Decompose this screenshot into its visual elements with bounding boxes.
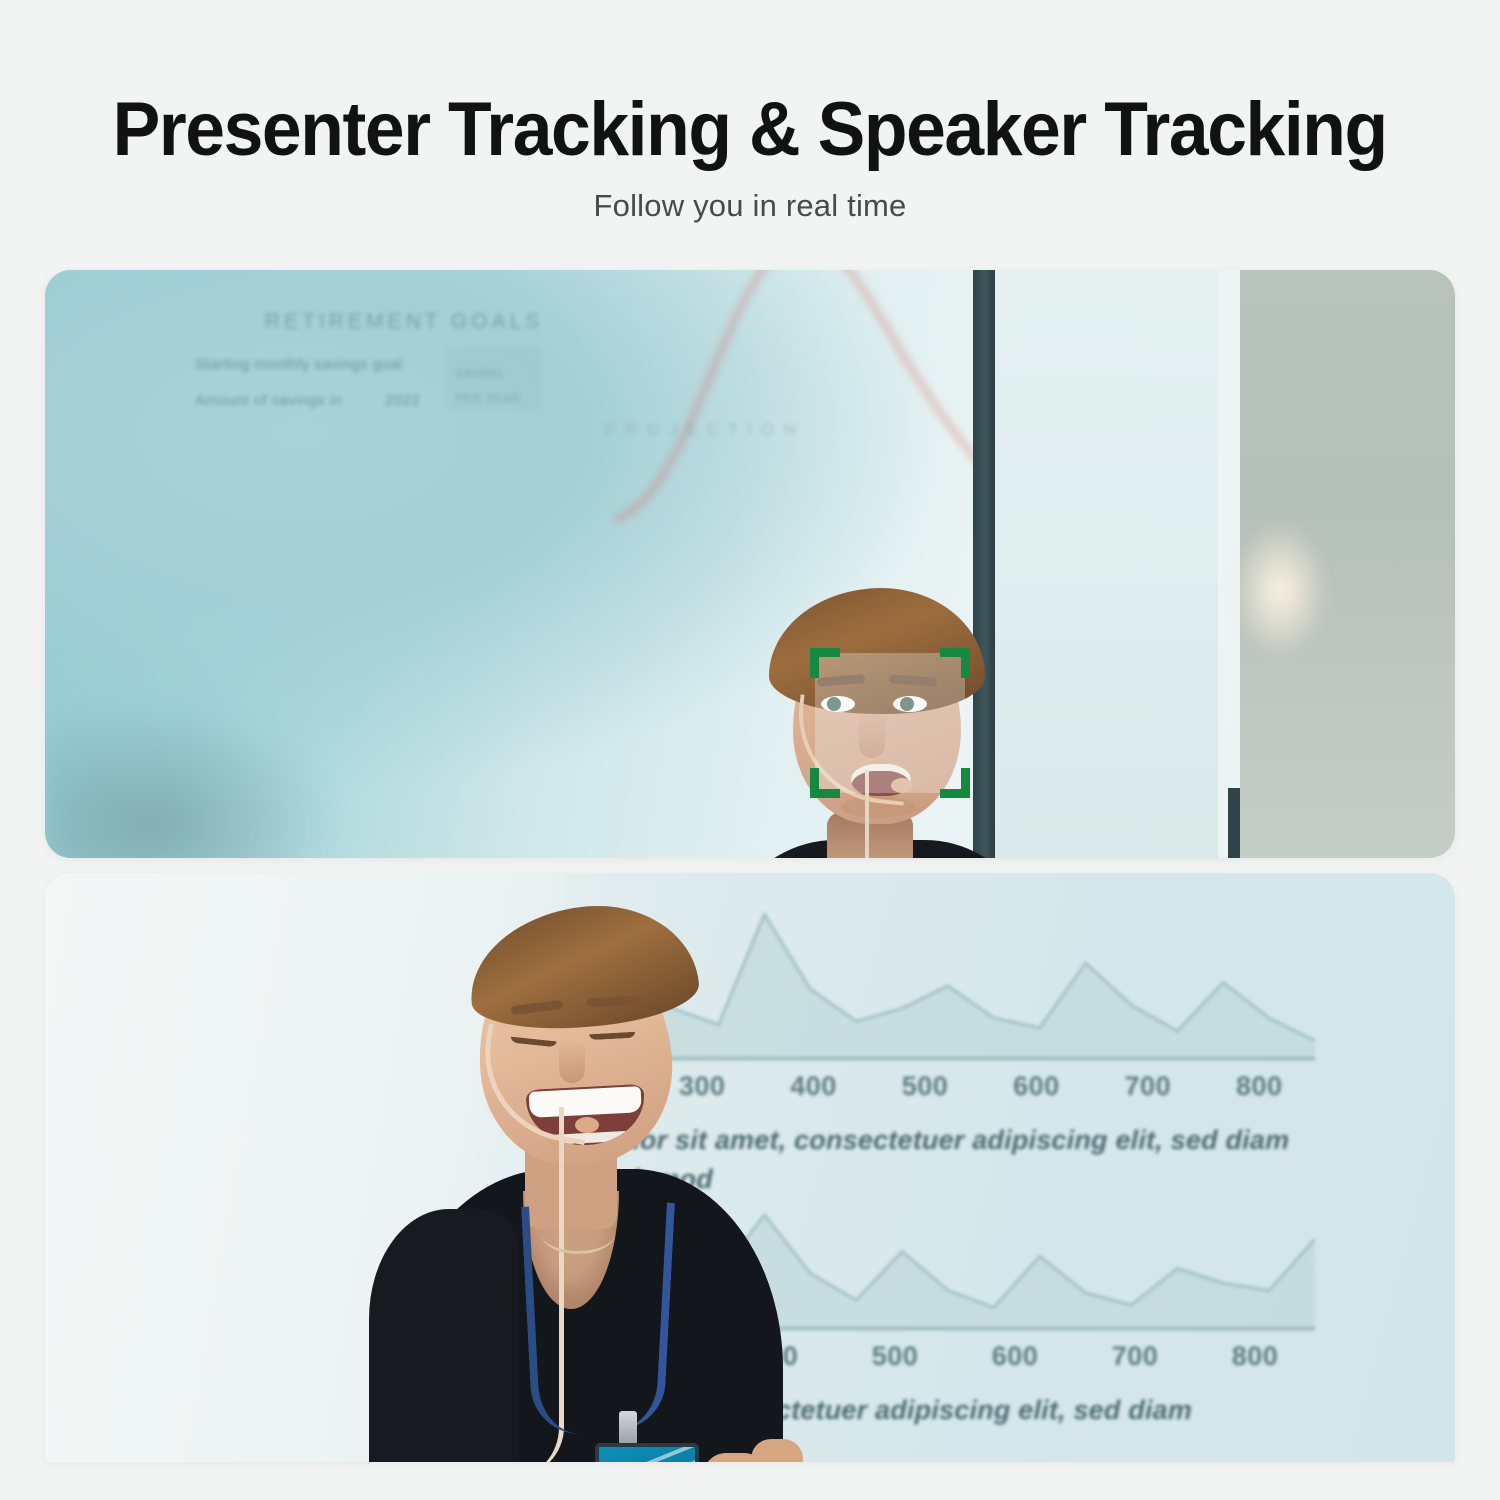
wall-divider-bar-secondary — [1228, 788, 1240, 858]
tick-label-700: 700 — [1092, 1071, 1203, 1102]
slide-line-2: Amount of savings in — [195, 392, 342, 409]
bracket-corner-top-right — [940, 648, 970, 678]
tick-label-600: 600 — [955, 1341, 1075, 1372]
projected-slide: RETIREMENT GOALS Starting monthly saving… — [55, 270, 615, 670]
hand — [703, 1431, 813, 1462]
tick-label-500: 500 — [869, 1071, 980, 1102]
lanyard-left-strap — [521, 1203, 599, 1436]
page-subtitle: Follow you in real time — [594, 188, 907, 224]
photo-scene-top: RETIREMENT GOALS Starting monthly saving… — [45, 270, 1455, 858]
tick-label-600: 600 — [981, 1071, 1092, 1102]
slide-line-1: Starting monthly savings goal — [195, 356, 403, 373]
thumb — [751, 1439, 803, 1462]
slide-block-text: SAVING PER YEAR — [455, 362, 521, 411]
face-tracking-bracket-top — [815, 653, 965, 793]
slide-title: RETIREMENT GOALS — [265, 310, 543, 334]
slide-block-line-2: PER YEAR — [455, 387, 521, 412]
tick-label-800: 800 — [1195, 1341, 1315, 1372]
tick-label-700: 700 — [1075, 1341, 1195, 1372]
bracket-corner-top-left — [810, 648, 840, 678]
badge-clip — [619, 1411, 637, 1445]
floor-shadow — [45, 698, 345, 858]
badge-stripe-1 — [595, 1443, 699, 1462]
page-header: Presenter Tracking & Speaker Tracking Fo… — [0, 0, 1500, 250]
speaker-tracking-photo: 200300400500600700800 sum dolor sit amet… — [45, 873, 1455, 1462]
wall-light-reflection — [1230, 520, 1330, 660]
eye-right-closed — [589, 1024, 636, 1040]
photo-scene-bottom: 200300400500600700800 sum dolor sit amet… — [45, 873, 1455, 1462]
slide-block-line-1: SAVING — [455, 362, 521, 387]
bracket-corner-bottom-right — [940, 768, 970, 798]
headset-mic-capsule — [575, 1117, 599, 1133]
presenter-tracking-photo: RETIREMENT GOALS Starting monthly saving… — [45, 270, 1455, 858]
presenter-person-bottom: EXPO — [273, 891, 833, 1462]
tick-label-800: 800 — [1204, 1071, 1315, 1102]
projected-red-curve — [605, 270, 1025, 530]
page-title: Presenter Tracking & Speaker Tracking — [113, 92, 1387, 168]
projected-faint-text: PROJECTION — [605, 420, 805, 440]
hair-front — [464, 897, 702, 1036]
slide-year: 2022 — [385, 392, 420, 409]
tick-label-500: 500 — [835, 1341, 955, 1372]
bracket-corner-bottom-left — [810, 768, 840, 798]
expo-badge: EXPO — [595, 1443, 699, 1462]
